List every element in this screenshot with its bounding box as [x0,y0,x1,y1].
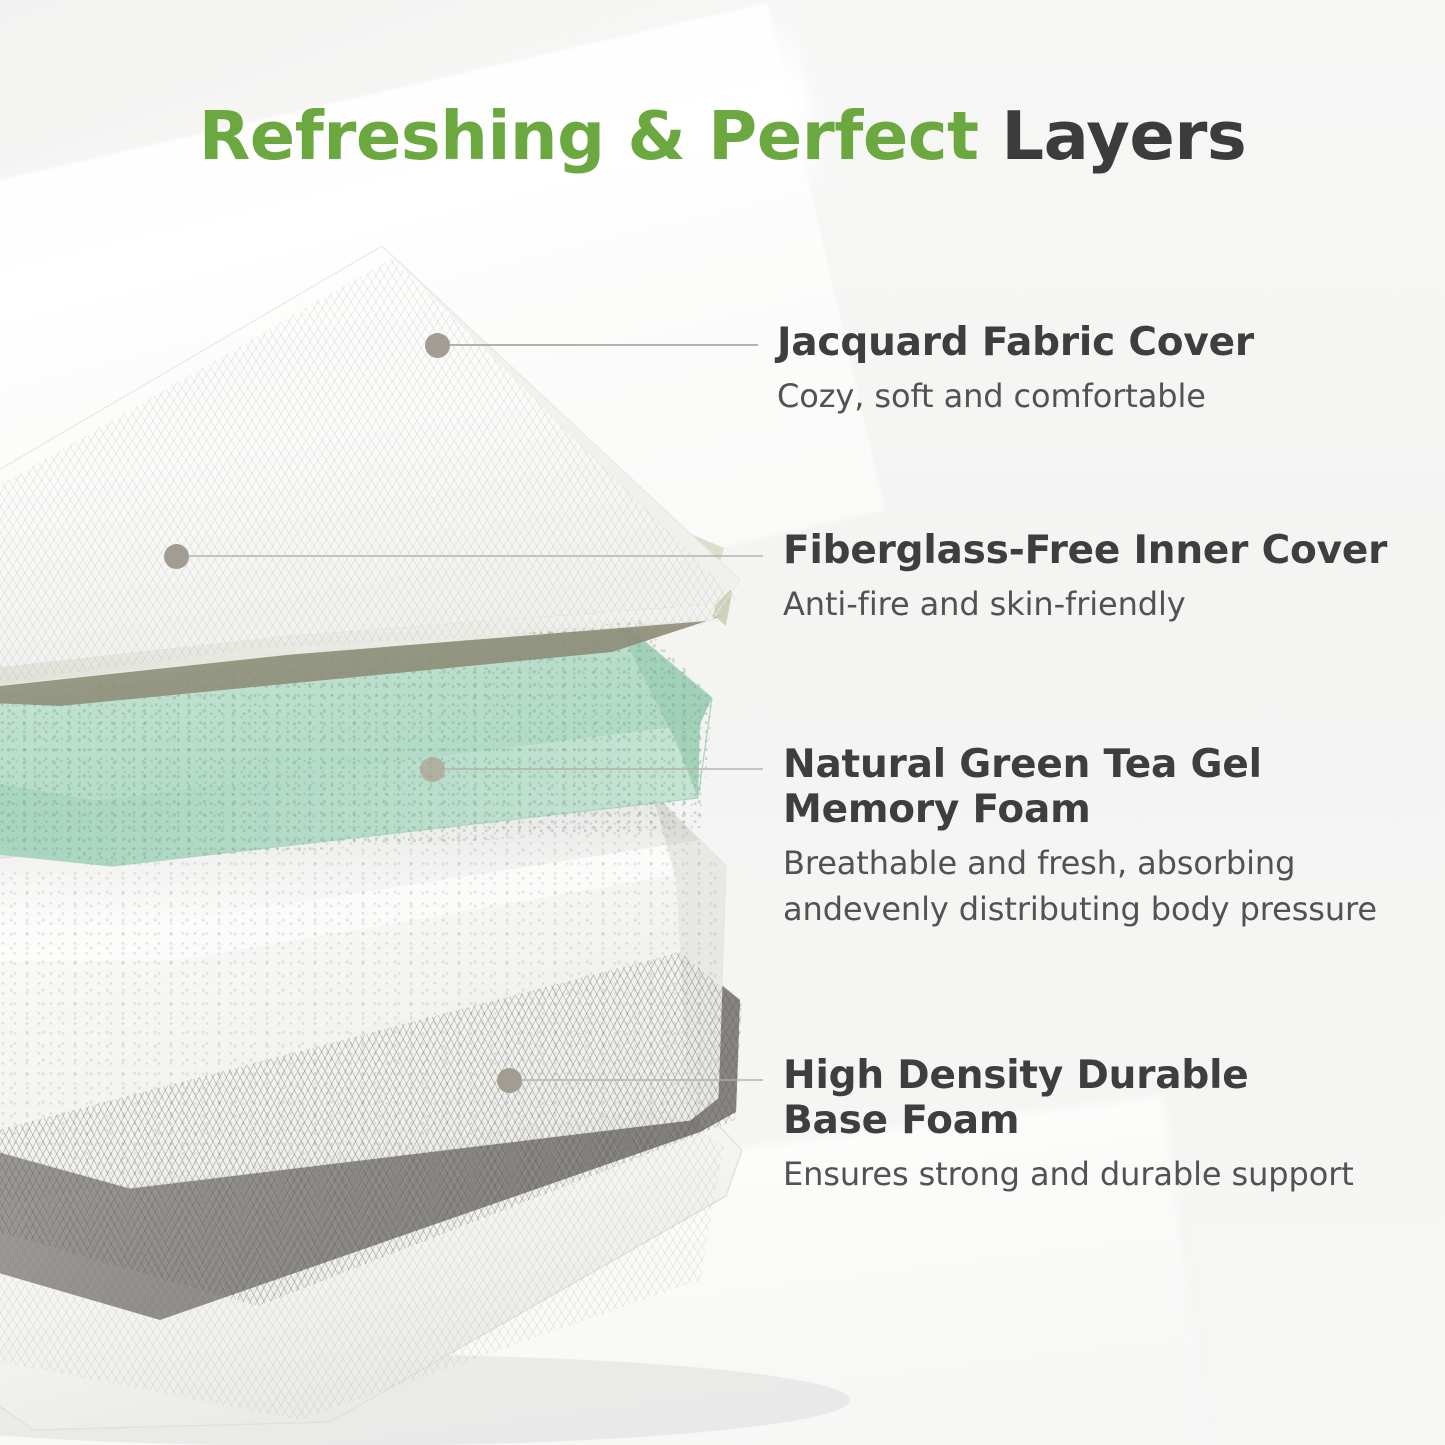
callout-heading-green-tea-gel-memory-foam: Natural Green Tea Gel Memory Foam [783,742,1423,832]
mattress-layer-illustration [0,0,1445,1445]
leader-line-green-tea-gel-memory-foam [445,768,763,770]
callout-heading-jacquard-fabric-cover: Jacquard Fabric Cover [777,320,1417,365]
mattress-svg [0,0,1445,1445]
leader-line-fiberglass-free-inner-cover [189,555,763,557]
callout-heading-fiberglass-free-inner-cover: Fiberglass-Free Inner Cover [783,528,1423,573]
leader-line-jacquard-fabric-cover [450,344,758,346]
label-high-density-base-foam: High Density Durable Base Foam Ensures s… [783,1053,1423,1198]
callout-dot-high-density-base-foam[interactable] [497,1068,522,1093]
label-fiberglass-free-inner-cover: Fiberglass-Free Inner Cover Anti-fire an… [783,528,1423,628]
callout-dot-jacquard-fabric-cover[interactable] [425,333,450,358]
callout-heading-high-density-base-foam: High Density Durable Base Foam [783,1053,1423,1143]
callout-subtext-jacquard-fabric-cover: Cozy, soft and comfortable [777,374,1417,419]
jacquard-fabric-cover-layer [0,246,740,694]
callout-subtext-high-density-base-foam: Ensures strong and durable support [783,1152,1423,1197]
label-jacquard-fabric-cover: Jacquard Fabric Cover Cozy, soft and com… [777,320,1417,420]
infographic-canvas: Refreshing & Perfect Layers [0,0,1445,1445]
label-green-tea-gel-memory-foam: Natural Green Tea Gel Memory Foam Breath… [783,742,1423,932]
leader-line-high-density-base-foam [522,1079,763,1081]
callout-subtext-fiberglass-free-inner-cover: Anti-fire and skin-friendly [783,582,1423,627]
callout-dot-fiberglass-free-inner-cover[interactable] [164,544,189,569]
callout-subtext-green-tea-gel-memory-foam: Breathable and fresh, absorbing andevenl… [783,841,1423,932]
callout-dot-green-tea-gel-memory-foam[interactable] [420,757,445,782]
